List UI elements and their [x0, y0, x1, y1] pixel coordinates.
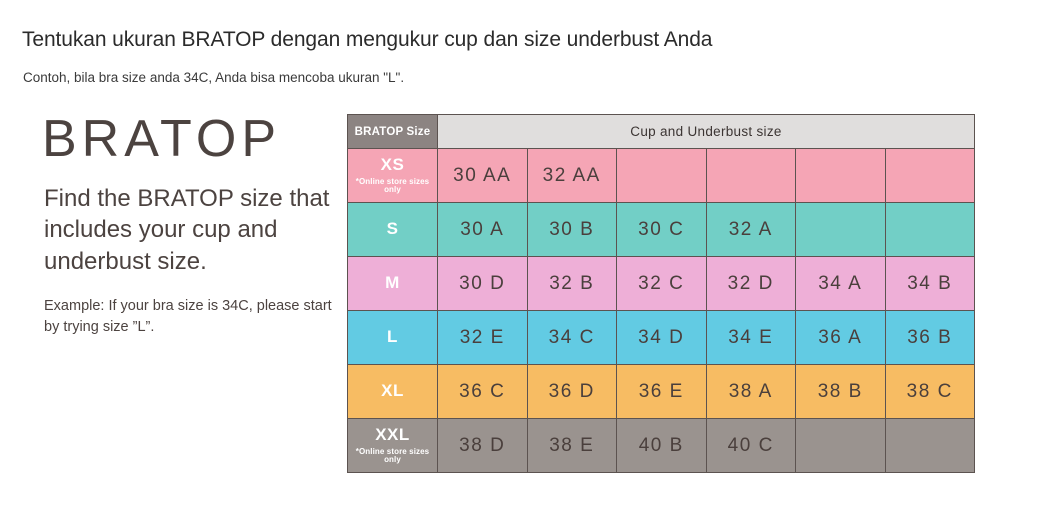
size-cell: 38 B [796, 365, 886, 419]
size-cell-empty [796, 149, 886, 203]
table-row: XL36 C36 D36 E38 A38 B38 C [348, 365, 975, 419]
size-cell: 30 AA [438, 149, 528, 203]
row-label-text: M [348, 274, 437, 293]
table-head: BRATOP Size Cup and Underbust size [348, 115, 975, 149]
page-subtitle: Contoh, bila bra size anda 34C, Anda bis… [23, 70, 404, 85]
size-cell: 34 D [617, 311, 707, 365]
table-header-row: BRATOP Size Cup and Underbust size [348, 115, 975, 149]
size-cell: 36 B [885, 311, 975, 365]
row-label-text: XL [348, 382, 437, 401]
table-row: S30 A30 B30 C32 A [348, 203, 975, 257]
size-cell: 32 AA [527, 149, 617, 203]
promo-example-text: Example: If your bra size is 34C, please… [44, 296, 332, 338]
table-body: XS*Online store sizes only30 AA32 AAS30 … [348, 149, 975, 473]
size-cell: 36 D [527, 365, 617, 419]
bratop-wordmark: BRATOP [42, 112, 332, 167]
header-cup-underbust-size: Cup and Underbust size [438, 115, 975, 149]
promo-lead-text: Find the BRATOP size that includes your … [44, 183, 332, 278]
row-label-xs: XS*Online store sizes only [348, 149, 438, 203]
size-cell: 34 C [527, 311, 617, 365]
row-label-l: L [348, 311, 438, 365]
size-cell: 36 A [796, 311, 886, 365]
size-cell-empty [796, 419, 886, 473]
row-label-text: L [348, 328, 437, 347]
size-cell-empty [885, 203, 975, 257]
page-title: Tentukan ukuran BRATOP dengan mengukur c… [22, 28, 712, 52]
header-bratop-size: BRATOP Size [348, 115, 438, 149]
size-cell: 38 E [527, 419, 617, 473]
size-cell: 30 B [527, 203, 617, 257]
size-cell: 32 C [617, 257, 707, 311]
size-cell: 32 D [706, 257, 796, 311]
size-cell-empty [706, 149, 796, 203]
table-row: XS*Online store sizes only30 AA32 AA [348, 149, 975, 203]
table-row: M30 D32 B32 C32 D34 A34 B [348, 257, 975, 311]
size-cell: 40 C [706, 419, 796, 473]
row-label-m: M [348, 257, 438, 311]
size-cell: 30 A [438, 203, 528, 257]
size-cell: 38 A [706, 365, 796, 419]
size-cell-empty [796, 203, 886, 257]
row-label-text: S [348, 220, 437, 239]
row-label-xl: XL [348, 365, 438, 419]
table-row: XXL*Online store sizes only38 D38 E40 B4… [348, 419, 975, 473]
size-cell-empty [885, 419, 975, 473]
size-cell-empty [885, 149, 975, 203]
size-chart-container: BRATOP Size Cup and Underbust size XS*On… [347, 114, 974, 473]
size-cell: 30 D [438, 257, 528, 311]
row-label-xxl: XXL*Online store sizes only [348, 419, 438, 473]
size-cell: 34 E [706, 311, 796, 365]
promo-panel: BRATOP Find the BRATOP size that include… [22, 112, 332, 338]
size-cell: 40 B [617, 419, 707, 473]
size-cell: 32 B [527, 257, 617, 311]
row-label-s: S [348, 203, 438, 257]
table-row: L32 E34 C34 D34 E36 A36 B [348, 311, 975, 365]
size-chart-table: BRATOP Size Cup and Underbust size XS*On… [347, 114, 975, 473]
row-label-note: *Online store sizes only [348, 448, 437, 466]
size-cell: 36 E [617, 365, 707, 419]
row-label-text: XXL [348, 426, 437, 445]
size-cell: 30 C [617, 203, 707, 257]
size-cell: 32 A [706, 203, 796, 257]
size-cell: 32 E [438, 311, 528, 365]
size-cell: 34 A [796, 257, 886, 311]
size-cell: 38 C [885, 365, 975, 419]
row-label-text: XS [348, 156, 437, 175]
size-cell: 36 C [438, 365, 528, 419]
row-label-note: *Online store sizes only [348, 178, 437, 196]
size-cell: 38 D [438, 419, 528, 473]
size-cell: 34 B [885, 257, 975, 311]
size-cell-empty [617, 149, 707, 203]
